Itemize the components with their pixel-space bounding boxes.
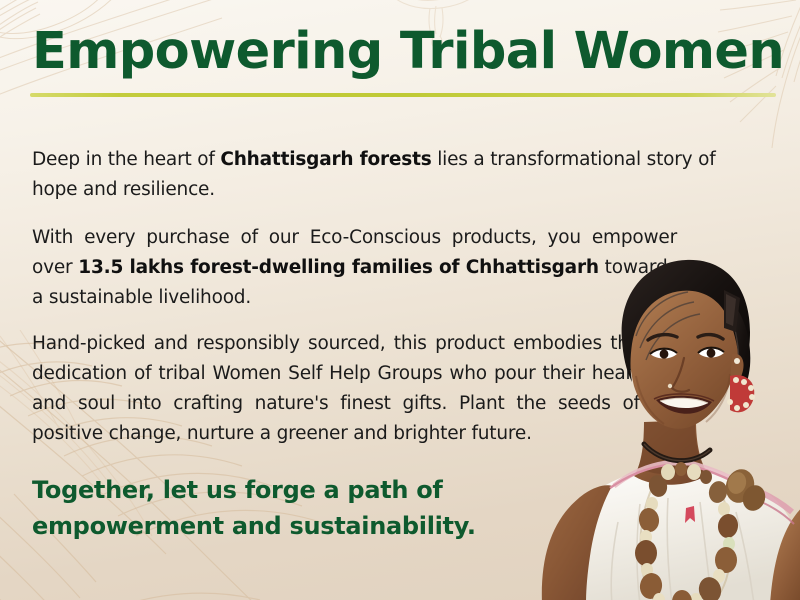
page-title: Empowering Tribal Women [32, 22, 784, 82]
poster-canvas: Empowering Tribal Women Deep in the hear… [0, 0, 800, 600]
tribal-woman-portrait [540, 236, 800, 600]
body-text: Deep in the heart of [32, 149, 220, 170]
emphasis-text: Chhattisgarh forests [220, 149, 431, 170]
title-divider-rule [30, 93, 776, 97]
paragraph-intro: Deep in the heart of Chhattisgarh forest… [32, 145, 748, 205]
closing-statement: Together, let us forge a path of empower… [32, 472, 552, 544]
emphasis-text: 13.5 lakhs forest-dwelling families of C… [78, 257, 599, 278]
